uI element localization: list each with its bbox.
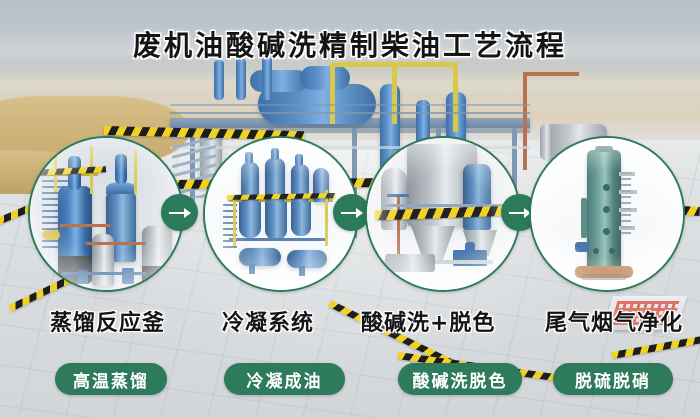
step-1-badge[interactable]: 高温蒸馏: [55, 363, 167, 395]
page-title: 废机油酸碱洗精制柴油工艺流程: [0, 24, 700, 64]
step-4-badge[interactable]: 脱硫脱硝: [553, 363, 673, 395]
step-3-caption: 酸碱洗+脱色: [361, 305, 495, 337]
poster-canvas: 废机油酸碱洗精制柴油工艺流程: [0, 0, 700, 418]
step-3-badge[interactable]: 酸碱洗脱色: [398, 363, 522, 395]
step-4-caption: 尾气烟气净化: [545, 305, 683, 337]
arrow-right-icon: [509, 206, 531, 220]
acid-alkali-wash-illustration: [367, 138, 519, 290]
flue-gas-scrubber-illustration: [531, 138, 683, 290]
arrow-right-icon: [169, 206, 191, 220]
distillation-reactor-illustration: [30, 138, 182, 290]
arrow-right-icon: [341, 206, 363, 220]
step-1-caption: 蒸馏反应釜: [50, 305, 165, 337]
step-2-badge[interactable]: 冷凝成油: [224, 363, 345, 395]
step-4-image-circle[interactable]: [529, 136, 685, 292]
arrow-1[interactable]: [161, 194, 198, 231]
step-3-image-circle[interactable]: [365, 136, 521, 292]
step-2-caption: 冷凝系统: [222, 305, 314, 337]
